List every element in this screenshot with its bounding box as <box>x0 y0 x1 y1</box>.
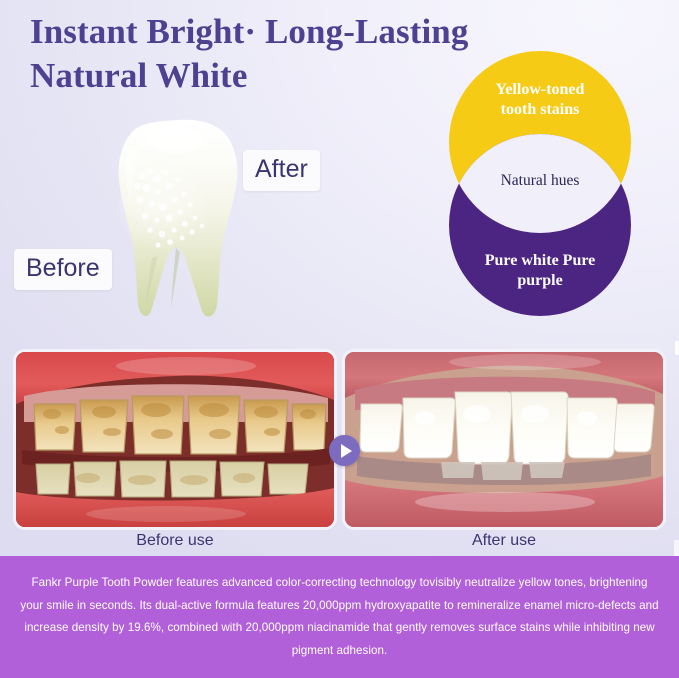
before-teeth-photo <box>16 352 334 527</box>
play-triangle <box>341 444 352 458</box>
before-photo-card[interactable]: Before use <box>16 352 334 527</box>
product-infographic: Instant Bright· Long-Lasting Natural Whi… <box>0 0 679 678</box>
product-description-text: Fankr Purple Tooth Powder features advan… <box>20 572 659 662</box>
page-title: Instant Bright· Long-Lasting Natural Whi… <box>30 10 500 99</box>
after-caption: After use <box>345 532 663 550</box>
after-photo-frame <box>345 352 663 527</box>
after-photo-card[interactable]: After use <box>345 352 663 527</box>
venn-label-middle: Natural hues <box>449 171 631 191</box>
product-description-band: Fankr Purple Tooth Powder features advan… <box>0 556 679 678</box>
before-label-chip: Before <box>14 249 112 290</box>
tooth-illustration <box>92 108 272 323</box>
before-photo-frame <box>16 352 334 527</box>
venn-label-bottom: Pure white Pure purple <box>449 251 631 292</box>
after-teeth-photo <box>345 352 663 527</box>
right-edge-marker-lower <box>674 540 679 556</box>
tooth-icon <box>92 108 272 323</box>
right-edge-marker <box>675 341 679 355</box>
after-label-chip: After <box>243 150 320 191</box>
venn-diagram: Yellow-toned tooth stains Natural hues P… <box>449 51 631 316</box>
venn-label-top: Yellow-toned tooth stains <box>449 80 631 121</box>
play-icon[interactable] <box>329 435 360 466</box>
before-caption: Before use <box>16 532 334 550</box>
